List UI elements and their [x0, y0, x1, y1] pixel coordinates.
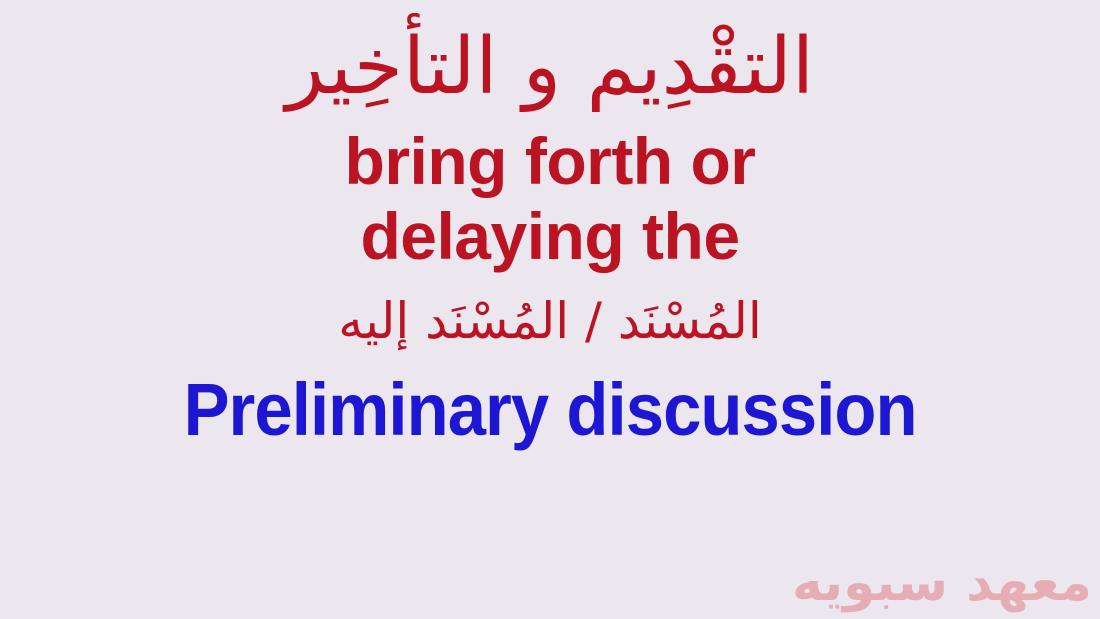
english-subtitle: Preliminary discussion: [183, 371, 916, 449]
slide-canvas: التقْدِيم و التأخِير bring forth or dela…: [0, 0, 1100, 619]
english-title-line-1: bring forth or: [345, 124, 756, 199]
english-title-line-2: delaying the: [345, 199, 756, 274]
slide-content-stack: التقْدِيم و التأخِير bring forth or dela…: [0, 0, 1100, 619]
arabic-subtitle: المُسْنَد / المُسْنَد إليه: [338, 286, 762, 357]
arabic-title: التقْدِيم و التأخِير: [286, 14, 814, 122]
english-title: bring forth or delaying the: [345, 124, 756, 274]
